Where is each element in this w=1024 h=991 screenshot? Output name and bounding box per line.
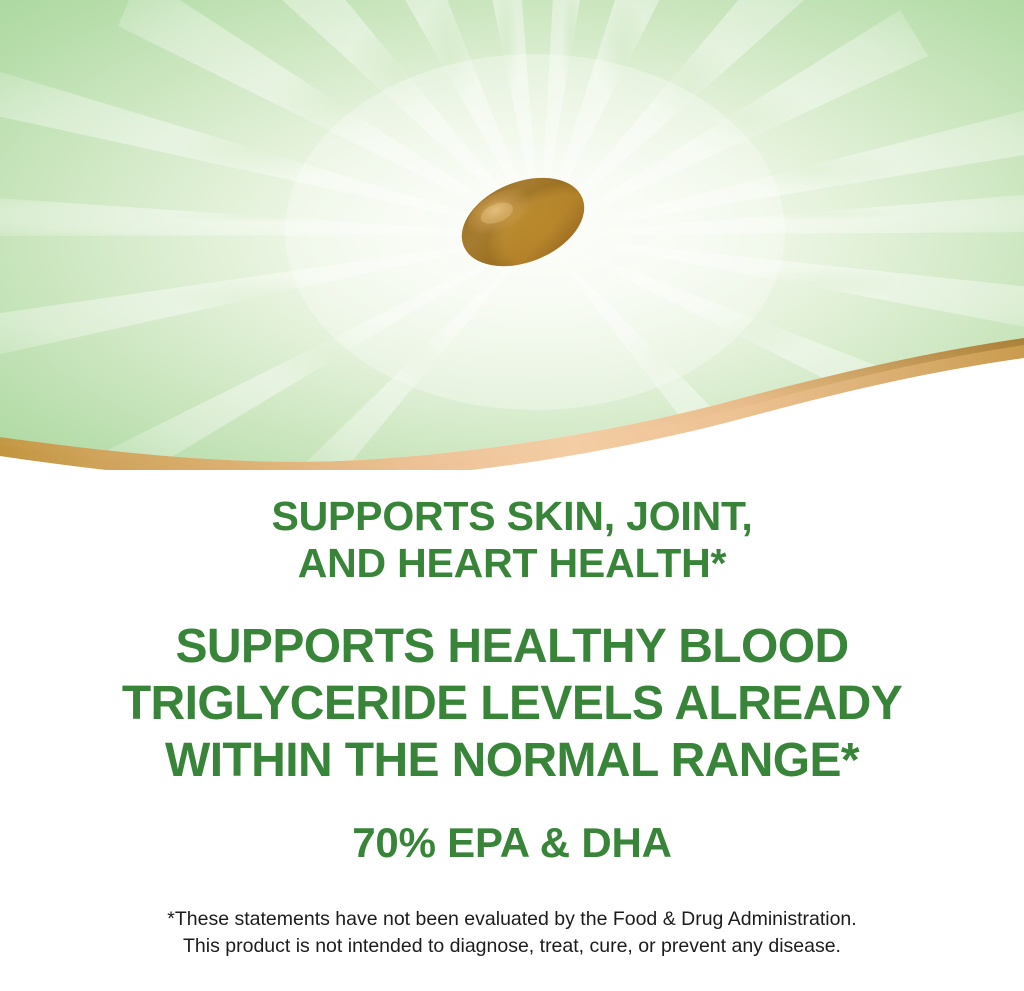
softgel-capsule bbox=[452, 172, 594, 272]
benefit-claim-skin-joint-heart: SUPPORTS SKIN, JOINT, AND HEART HEALTH* bbox=[62, 470, 962, 587]
product-marketing-image: SUPPORTS SKIN, JOINT, AND HEART HEALTH* … bbox=[0, 0, 1024, 991]
disclaimer-line2: This product is not intended to diagnose… bbox=[52, 933, 972, 960]
benefit-claim-triglyceride: SUPPORTS HEALTHY BLOOD TRIGLYCERIDE LEVE… bbox=[22, 587, 1002, 789]
claim1-line2: AND HEART HEALTH* bbox=[62, 540, 962, 587]
capsule-icon bbox=[452, 172, 594, 272]
claim2-line2: TRIGLYCERIDE LEVELS ALREADY bbox=[22, 675, 1002, 732]
claim2-line1: SUPPORTS HEALTHY BLOOD bbox=[22, 618, 1002, 675]
claim2-line3: WITHIN THE NORMAL RANGE* bbox=[22, 732, 1002, 789]
benefit-claim-epa-dha-potency: 70% EPA & DHA bbox=[62, 789, 962, 867]
disclaimer-line1: *These statements have not been evaluate… bbox=[52, 906, 972, 933]
claim1-line1: SUPPORTS SKIN, JOINT, bbox=[62, 493, 962, 540]
claim3-line1: 70% EPA & DHA bbox=[62, 819, 962, 867]
hero-panel bbox=[0, 0, 1024, 470]
benefits-copy-block: SUPPORTS SKIN, JOINT, AND HEART HEALTH* … bbox=[0, 470, 1024, 960]
fda-disclaimer: *These statements have not been evaluate… bbox=[52, 867, 972, 960]
